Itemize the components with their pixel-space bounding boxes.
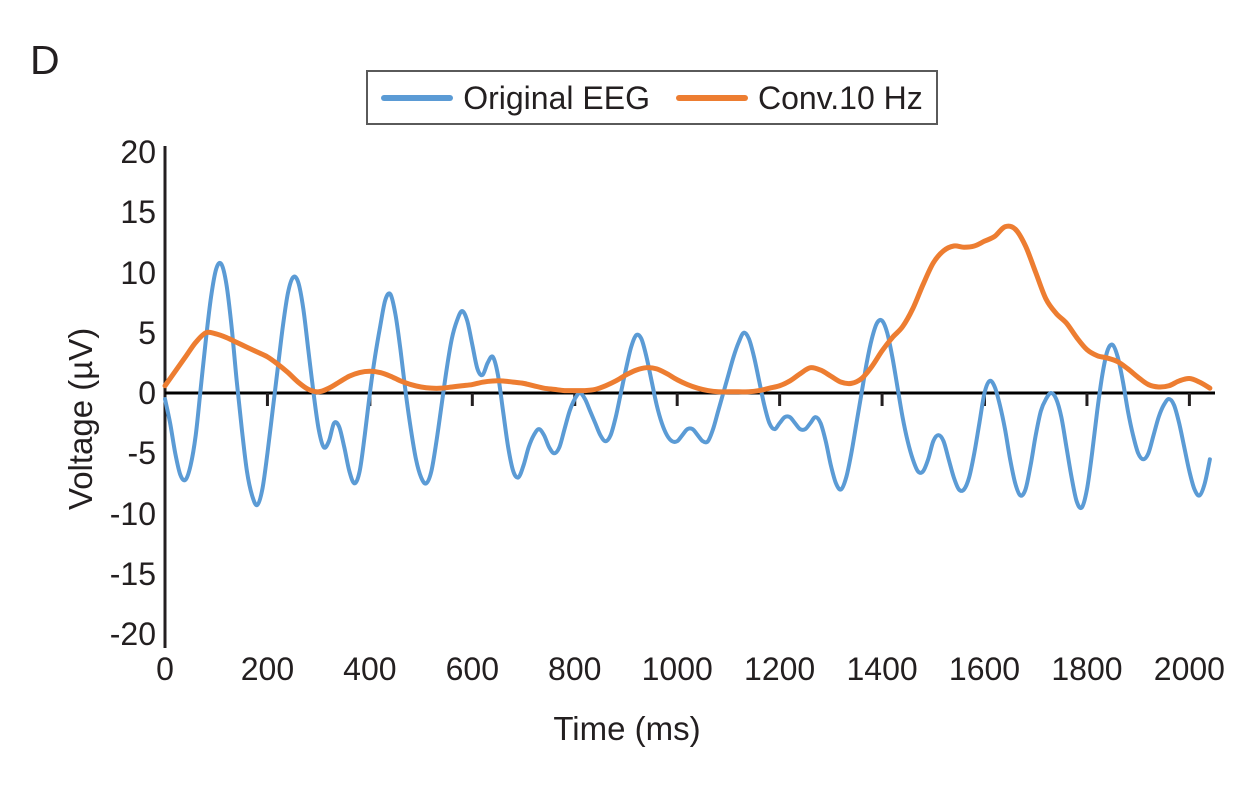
eeg-convolution-figure: D Original EEG Conv.10 Hz Voltage (µV) T…: [0, 0, 1254, 789]
series-line-conv-10hz: [165, 226, 1210, 392]
data-series-group: [165, 226, 1210, 508]
plot-canvas: [0, 0, 1254, 789]
